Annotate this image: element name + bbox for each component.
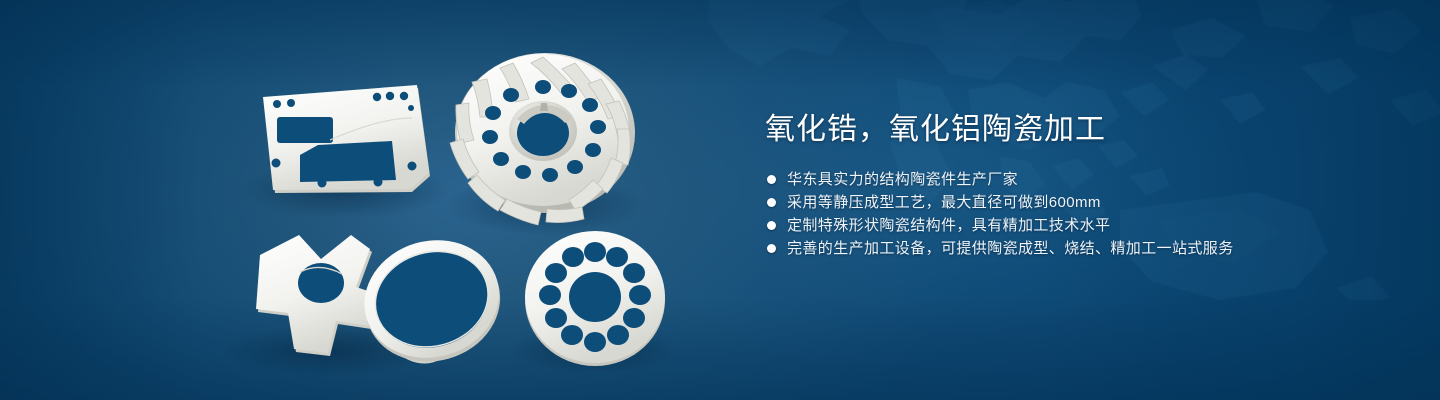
product-photo-cluster: [0, 0, 720, 400]
feature-list: 华东具实力的结构陶瓷件生产厂家 采用等静压成型工艺，最大直径可做到600mm 定…: [765, 172, 1385, 256]
bullet-dot-icon: [767, 198, 776, 207]
page-title: 氧化锆，氧化铝陶瓷加工: [765, 110, 1385, 150]
list-item: 华东具实力的结构陶瓷件生产厂家: [765, 172, 1385, 187]
list-item: 采用等静压成型工艺，最大直径可做到600mm: [765, 195, 1385, 210]
banner-copy: 氧化锆，氧化铝陶瓷加工 华东具实力的结构陶瓷件生产厂家 采用等静压成型工艺，最大…: [765, 110, 1385, 256]
feature-text: 完善的生产加工设备，可提供陶瓷成型、烧结、精加工一站式服务: [787, 240, 1234, 257]
ceramic-machined-plate: [263, 85, 430, 193]
bullet-dot-icon: [767, 244, 776, 253]
list-item: 定制特殊形状陶瓷结构件，具有精加工技术水平: [765, 218, 1385, 233]
feature-text: 定制特殊形状陶瓷结构件，具有精加工技术水平: [787, 217, 1110, 234]
list-item: 完善的生产加工设备，可提供陶瓷成型、烧结、精加工一站式服务: [765, 241, 1385, 256]
feature-text: 采用等静压成型工艺，最大直径可做到600mm: [787, 194, 1101, 211]
ceramic-perforated-disc: [525, 231, 665, 366]
bullet-dot-icon: [767, 221, 776, 230]
feature-text: 华东具实力的结构陶瓷件生产厂家: [787, 171, 1018, 188]
hero-banner: 氧化锆，氧化铝陶瓷加工 华东具实力的结构陶瓷件生产厂家 采用等静压成型工艺，最大…: [0, 0, 1440, 400]
bullet-dot-icon: [767, 175, 776, 184]
